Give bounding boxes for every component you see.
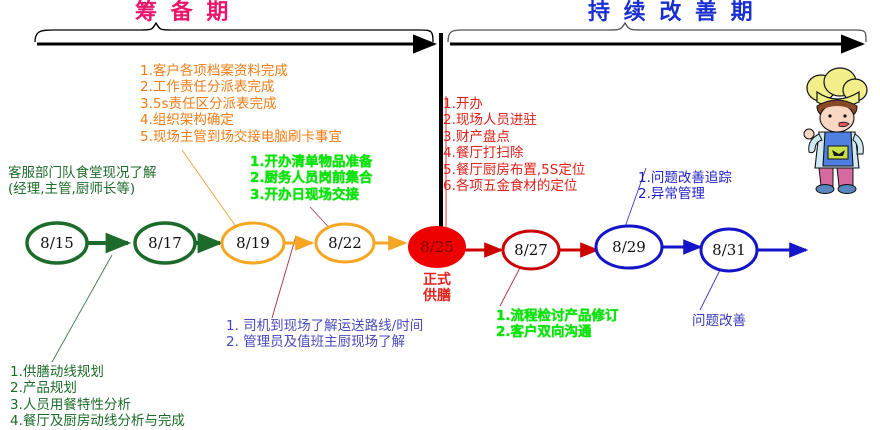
phase-brace-improve (448, 23, 866, 42)
launch-tasks-list: 1.开办 2.现场人员进驻 3.财产盘点 4.餐厅打扫除 5.餐厅厨房布置,5S… (443, 96, 585, 195)
intro-note: 客服部门队食堂现况了解 (经理,主管,厨师长等) (8, 165, 157, 198)
planning-tasks-list: 1.供膳动线规划 2.产品规划 3.人员用餐特性分析 4.餐厅及厨房动线分析与完… (10, 364, 185, 430)
review-tasks-list: 1.流程检讨产品修订 2.客户双向沟通 (496, 308, 619, 341)
site-survey-list: 1. 司机到现场了解运送路线/时间 2. 管理员及值班主厨现场了解 (226, 318, 423, 351)
timeline-node-8-15[interactable] (27, 223, 87, 263)
chef-character-icon (795, 58, 875, 198)
phase-title-prep: 筹 备 期 (135, 1, 231, 23)
timeline-node-8-22[interactable] (316, 224, 374, 262)
leader-planning (52, 255, 112, 362)
phase-brace-prep (35, 23, 433, 42)
improve-note: 问题改善 (692, 313, 746, 329)
timeline-node-8-25[interactable] (409, 227, 465, 267)
open-prep-list: 1.开办清单物品准备 2.厨务人员岗前集合 3.开办日现场交接 (250, 154, 373, 203)
timeline-node-8-27[interactable] (503, 231, 559, 269)
prep-tasks-list: 1.客户各项档案资料完成 2.工作责任分派表完成 3.5s责任区分派表完成 4.… (140, 63, 342, 145)
phase-title-improve: 持 续 改 善 期 (588, 1, 756, 23)
followup-tasks-list: 1.问题改善追踪 2.异常管理 (638, 170, 732, 203)
timeline-node-8-31[interactable] (701, 229, 757, 271)
diagram-canvas: 筹 备 期 持 续 改 善 期 8/15 8/17 8/19 8/22 8/25… (0, 0, 880, 430)
milestone-sublabel: 正式 供膳 (423, 272, 451, 304)
timeline-node-8-17[interactable] (135, 223, 195, 263)
leader-prep-tasks (182, 150, 244, 238)
timeline-node-8-19[interactable] (222, 223, 284, 263)
timeline-node-8-29[interactable] (596, 226, 662, 268)
